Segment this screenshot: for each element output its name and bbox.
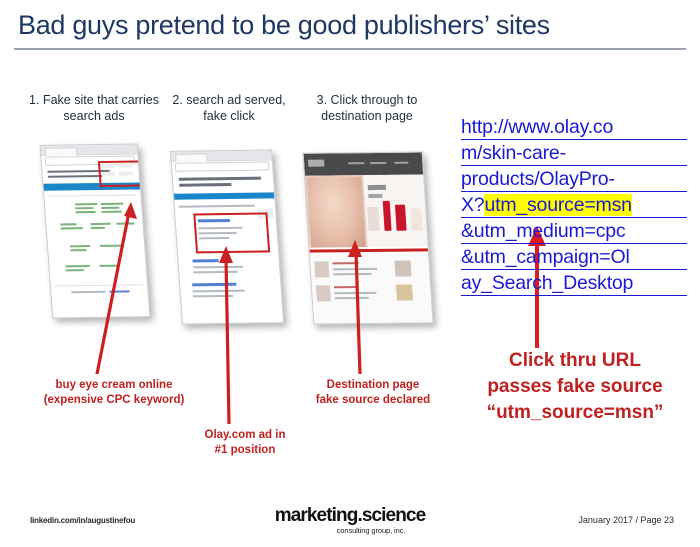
url-line-3[interactable]: products/OlayPro- bbox=[461, 166, 687, 192]
url-line-4-prefix: X? bbox=[461, 194, 484, 216]
conclusion-line-3: “utm_source=msn” bbox=[455, 400, 695, 426]
footer-date-page: January 2017 / Page 23 bbox=[578, 515, 674, 525]
callout-line-1: buy eye cream online bbox=[14, 378, 214, 393]
conclusion-line-2: passes fake source bbox=[455, 374, 695, 400]
url-line-4[interactable]: X?utm_source=msn bbox=[461, 192, 687, 218]
conclusion-text: Click thru URL passes fake source “utm_s… bbox=[455, 348, 695, 426]
click-through-url[interactable]: http://www.olay.co m/skin-care- products… bbox=[461, 114, 687, 296]
callout-line-1: Destination page bbox=[292, 378, 454, 393]
arrow-to-search-ad bbox=[97, 202, 137, 374]
footer-logo-sub: consulting group, inc. bbox=[42, 526, 700, 535]
url-line-6[interactable]: &utm_campaign=Ol bbox=[461, 244, 687, 270]
callout-line-1: Olay.com ad in bbox=[170, 428, 320, 443]
callout-line-2: (expensive CPC keyword) bbox=[14, 393, 214, 408]
conclusion-line-1: Click thru URL bbox=[455, 348, 695, 374]
url-line-7[interactable]: ay_Search_Desktop bbox=[461, 270, 687, 296]
callout-olay-ad-position: Olay.com ad in #1 position bbox=[170, 428, 320, 458]
callout-line-2: fake source declared bbox=[292, 393, 454, 408]
arrow-to-olay-ad bbox=[219, 246, 233, 424]
url-line-1[interactable]: http://www.olay.co bbox=[461, 114, 687, 140]
arrow-to-destination-page bbox=[348, 240, 362, 374]
url-line-5[interactable]: &utm_medium=cpc bbox=[461, 218, 687, 244]
callout-buy-eye-cream: buy eye cream online (expensive CPC keyw… bbox=[14, 378, 214, 408]
callout-line-2: #1 position bbox=[170, 443, 320, 458]
utm-source-highlight: utm_source=msn bbox=[484, 194, 631, 216]
url-line-2[interactable]: m/skin-care- bbox=[461, 140, 687, 166]
callout-destination-page: Destination page fake source declared bbox=[292, 378, 454, 408]
